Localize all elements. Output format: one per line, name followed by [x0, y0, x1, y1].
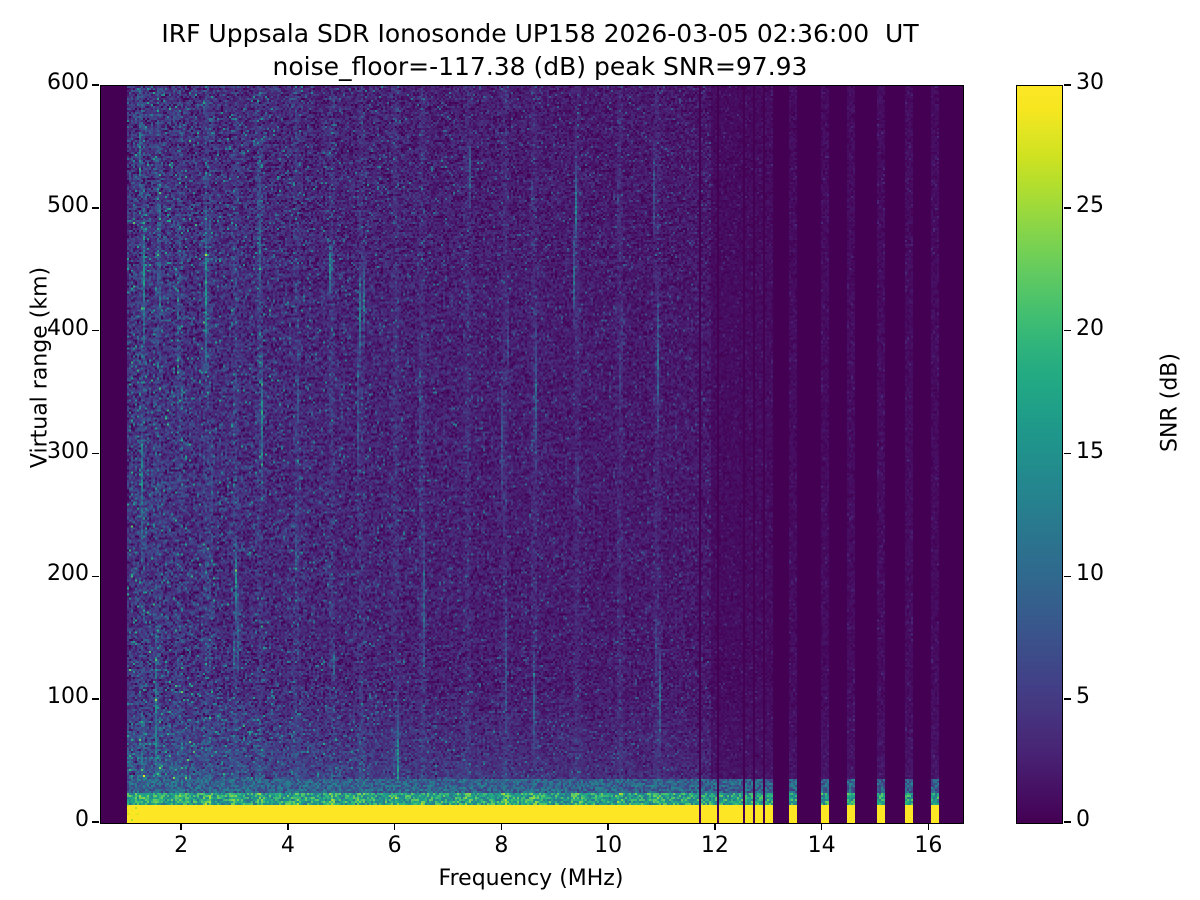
colorbar-label: SNR (dB)	[1158, 253, 1183, 553]
colorbar-tick-label: 25	[1076, 193, 1104, 218]
colorbar-tick-mark	[1064, 207, 1071, 208]
y-tick-label: 200	[47, 561, 89, 586]
y-tick-mark	[92, 576, 99, 577]
x-axis-label: Frequency (MHz)	[100, 866, 962, 891]
x-tick-label: 14	[782, 833, 862, 858]
colorbar-tick-mark	[1064, 821, 1071, 822]
y-tick-label: 100	[47, 684, 89, 709]
ionogram-figure: IRF Uppsala SDR Ionosonde UP158 2026-03-…	[0, 0, 1200, 900]
x-tick-label: 8	[461, 833, 541, 858]
x-tick-mark	[180, 823, 181, 830]
y-tick-label: 400	[47, 316, 89, 341]
colorbar-tick-mark	[1064, 84, 1071, 85]
colorbar-tick-label: 20	[1076, 316, 1104, 341]
colorbar-tick-label: 15	[1076, 439, 1104, 464]
y-tick-mark	[92, 453, 99, 454]
colorbar-tick-mark	[1064, 698, 1071, 699]
colorbar	[1016, 85, 1063, 824]
y-tick-mark	[92, 821, 99, 822]
colorbar-tick-label: 10	[1076, 561, 1104, 586]
y-tick-label: 600	[47, 70, 89, 95]
x-tick-mark	[714, 823, 715, 830]
colorbar-tick-mark	[1064, 576, 1071, 577]
colorbar-gradient	[1017, 86, 1062, 823]
x-tick-label: 4	[248, 833, 328, 858]
ionogram-plot-area	[100, 85, 964, 824]
title-line-1: IRF Uppsala SDR Ionosonde UP158 2026-03-…	[0, 18, 1080, 51]
y-axis-label: Virtual range (km)	[28, 188, 53, 548]
colorbar-tick-mark	[1064, 330, 1071, 331]
colorbar-tick-label: 30	[1076, 70, 1104, 95]
y-tick-mark	[92, 330, 99, 331]
y-tick-label: 300	[47, 439, 89, 464]
colorbar-tick-label: 0	[1076, 807, 1090, 832]
x-tick-mark	[928, 823, 929, 830]
x-tick-label: 2	[141, 833, 221, 858]
figure-title: IRF Uppsala SDR Ionosonde UP158 2026-03-…	[0, 18, 1080, 83]
colorbar-tick-mark	[1064, 453, 1071, 454]
x-tick-label: 12	[675, 833, 755, 858]
ionogram-heatmap	[101, 86, 963, 823]
x-tick-mark	[501, 823, 502, 830]
x-tick-mark	[607, 823, 608, 830]
y-tick-label: 500	[47, 193, 89, 218]
y-tick-mark	[92, 84, 99, 85]
x-tick-label: 16	[888, 833, 968, 858]
x-tick-label: 10	[568, 833, 648, 858]
x-tick-label: 6	[355, 833, 435, 858]
x-tick-mark	[394, 823, 395, 830]
y-tick-label: 0	[75, 807, 89, 832]
y-tick-mark	[92, 698, 99, 699]
colorbar-tick-label: 5	[1076, 684, 1090, 709]
x-tick-mark	[287, 823, 288, 830]
y-tick-mark	[92, 207, 99, 208]
title-line-2: noise_floor=-117.38 (dB) peak SNR=97.93	[0, 51, 1080, 84]
x-tick-mark	[821, 823, 822, 830]
